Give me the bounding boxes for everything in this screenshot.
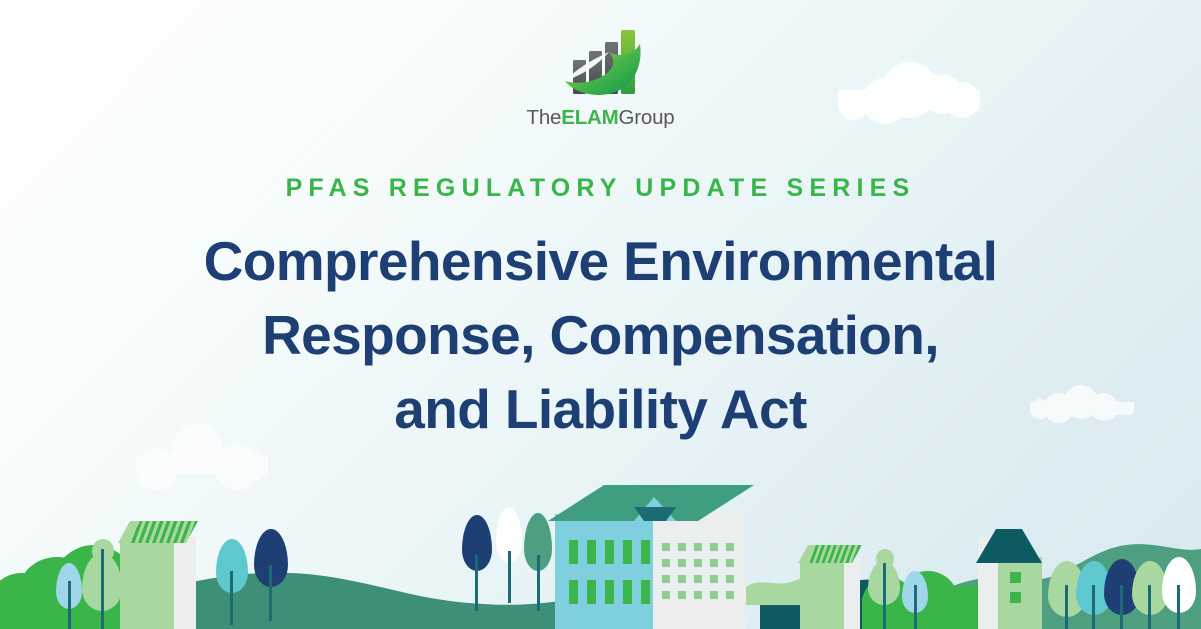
tree-trunk (1120, 585, 1123, 629)
window (678, 559, 686, 567)
title-line-3: and Liability Act (0, 372, 1201, 446)
window (662, 559, 670, 567)
window (678, 543, 686, 551)
building-central-front (555, 514, 653, 629)
tree-trunk (914, 585, 917, 629)
window (662, 575, 670, 583)
bar-chart-leaf-logo-icon (543, 26, 659, 100)
window (641, 540, 650, 564)
window (678, 575, 686, 583)
brand-wordmark: TheELAMGroup (527, 106, 675, 130)
window (623, 580, 632, 604)
window (726, 591, 734, 599)
title-line-2: Response, Compensation, (0, 298, 1201, 372)
window (726, 575, 734, 583)
window (587, 580, 596, 604)
window (710, 559, 718, 567)
tree-trunk (101, 549, 104, 629)
tree-trunk (1065, 585, 1068, 629)
window (694, 559, 702, 567)
wordmark-the: The (527, 106, 562, 129)
tree-trunk (537, 555, 540, 611)
page-title: Comprehensive Environmental Response, Co… (0, 224, 1201, 446)
window (710, 543, 718, 551)
tree-trunk (508, 551, 511, 603)
building-right-roof (798, 545, 862, 563)
tree-trunk (269, 565, 272, 621)
window (710, 575, 718, 583)
building-central-roof (548, 479, 754, 521)
window (587, 540, 596, 564)
building-right-front (800, 561, 844, 629)
window (605, 540, 614, 564)
window (726, 559, 734, 567)
brand-logo: TheELAMGroup (0, 26, 1201, 136)
building-central-side (652, 514, 746, 629)
tree-trunk (1148, 585, 1151, 629)
tree-trunk (1092, 585, 1095, 629)
series-eyebrow: PFAS REGULATORY UPDATE SERIES (0, 174, 1201, 203)
window (1010, 572, 1021, 583)
tree-trunk (475, 555, 478, 611)
building-left-roof (118, 521, 198, 543)
building-left-front (120, 541, 174, 629)
title-line-1: Comprehensive Environmental (0, 224, 1201, 298)
window (678, 591, 686, 599)
tree-trunk (1177, 585, 1180, 629)
building-far-right-roof (976, 529, 1048, 563)
window (694, 575, 702, 583)
pfas-update-banner: TheELAMGroup PFAS REGULATORY UPDATE SERI… (0, 0, 1201, 629)
tree-trunk (230, 571, 233, 625)
window (1010, 592, 1021, 603)
window (569, 540, 578, 564)
window (605, 580, 614, 604)
window (641, 580, 650, 604)
wordmark-group: Group (619, 106, 675, 129)
window (662, 543, 670, 551)
window (694, 591, 702, 599)
window (726, 543, 734, 551)
window (623, 540, 632, 564)
window (662, 591, 670, 599)
tree-trunk (883, 563, 886, 629)
wordmark-elam: ELAM (561, 106, 618, 129)
window (710, 591, 718, 599)
window (694, 543, 702, 551)
tree-trunk (68, 581, 71, 629)
green-city-illustration (0, 449, 1201, 629)
window (569, 580, 578, 604)
